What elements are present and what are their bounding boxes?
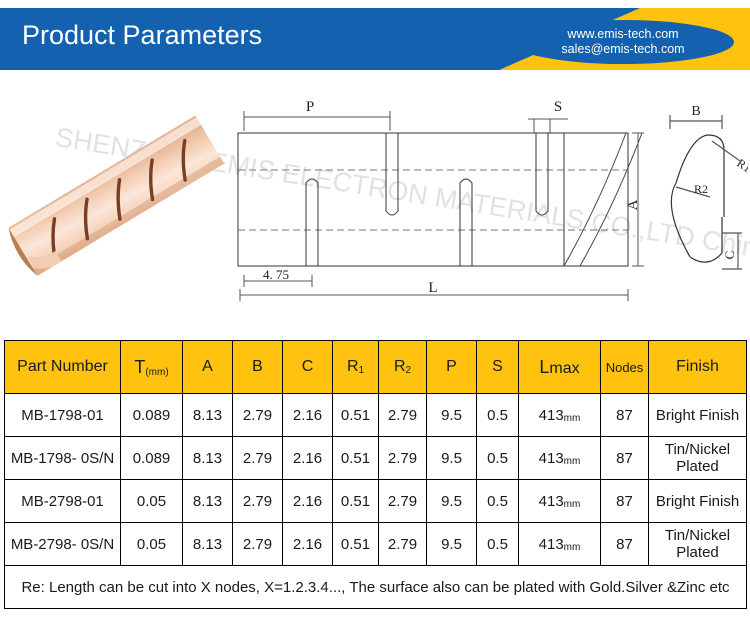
product-photo: [2, 90, 230, 305]
cell-p: 9.5: [427, 394, 477, 437]
header-r1-base: R: [347, 358, 359, 375]
cell-lmax-unit: mm: [564, 499, 581, 510]
illustration-area: P S A 4. 75 L: [0, 85, 750, 325]
cell-part-number: MB-2798-01: [5, 480, 121, 523]
cell-finish: Tin/Nickel Plated: [649, 437, 747, 480]
cell-r2: 2.79: [379, 437, 427, 480]
cell-finish: Bright Finish: [649, 394, 747, 437]
header-lmax: Lmax: [519, 341, 601, 394]
header-part-number: Part Number: [5, 341, 121, 394]
label-a: A: [625, 199, 641, 210]
page-title: Product Parameters: [22, 20, 262, 51]
cell-nodes: 87: [601, 437, 649, 480]
cell-c: 2.16: [283, 523, 333, 566]
header-finish: Finish: [649, 341, 747, 394]
cell-c: 2.16: [283, 394, 333, 437]
cell-lmax-unit: mm: [564, 542, 581, 553]
contact-badge: www.emis-tech.com sales@emis-tech.com: [512, 20, 734, 64]
label-p: P: [306, 99, 314, 115]
label-l: L: [428, 280, 437, 296]
parameters-table: Part Number T(mm) A B C R1 R2 P S Lmax N…: [4, 340, 747, 609]
header-r1-sub: 1: [359, 365, 365, 376]
table-row: MB-2798- 0S/N 0.05 8.13 2.79 2.16 0.51 2…: [5, 523, 747, 566]
cell-nodes: 87: [601, 523, 649, 566]
cell-c: 2.16: [283, 480, 333, 523]
cell-finish: Bright Finish: [649, 480, 747, 523]
cell-a: 8.13: [183, 480, 233, 523]
website-text: www.emis-tech.com: [567, 27, 678, 42]
cell-r2: 2.79: [379, 480, 427, 523]
cell-lmax-unit: mm: [564, 456, 581, 467]
cell-lmax-value: 413: [539, 407, 564, 424]
header-lmax-l: L: [539, 357, 549, 377]
header-lmax-max: max: [549, 360, 579, 377]
cell-nodes: 87: [601, 394, 649, 437]
table-body: MB-1798-01 0.089 8.13 2.79 2.16 0.51 2.7…: [5, 394, 747, 609]
cell-a: 8.13: [183, 523, 233, 566]
cell-r1: 0.51: [333, 437, 379, 480]
header-r2-base: R: [394, 358, 406, 375]
label-b: B: [691, 104, 700, 119]
header-c: C: [283, 341, 333, 394]
header-b: B: [233, 341, 283, 394]
cell-p: 9.5: [427, 437, 477, 480]
cell-p: 9.5: [427, 480, 477, 523]
cell-lmax-value: 413: [539, 450, 564, 467]
label-r2: R2: [694, 182, 708, 196]
cell-thickness: 0.089: [121, 394, 183, 437]
header-thickness-unit: (mm): [145, 367, 168, 378]
cell-finish: Tin/Nickel Plated: [649, 523, 747, 566]
cell-lmax: 413mm: [519, 480, 601, 523]
technical-drawing-side-view: P S A 4. 75 L: [228, 93, 648, 308]
cell-a: 8.13: [183, 394, 233, 437]
cell-s: 0.5: [477, 523, 519, 566]
cell-b: 2.79: [233, 523, 283, 566]
strip-body: [4, 115, 227, 283]
cell-s: 0.5: [477, 437, 519, 480]
header-r1: R1: [333, 341, 379, 394]
table-header-row: Part Number T(mm) A B C R1 R2 P S Lmax N…: [5, 341, 747, 394]
parameters-table-wrapper: Part Number T(mm) A B C R1 R2 P S Lmax N…: [4, 340, 746, 609]
cell-s: 0.5: [477, 394, 519, 437]
cell-r2: 2.79: [379, 523, 427, 566]
header-s: S: [477, 341, 519, 394]
table-row: MB-1798- 0S/N 0.089 8.13 2.79 2.16 0.51 …: [5, 437, 747, 480]
header-banner: Product Parameters www.emis-tech.com sal…: [0, 8, 750, 70]
cell-thickness: 0.05: [121, 523, 183, 566]
label-s: S: [554, 99, 562, 115]
cell-lmax-value: 413: [539, 493, 564, 510]
cell-b: 2.79: [233, 480, 283, 523]
cross-section-drawing: B R1 R2 C: [648, 97, 748, 297]
header-r2-sub: 2: [406, 365, 412, 376]
cell-b: 2.79: [233, 394, 283, 437]
cell-part-number: MB-1798-01: [5, 394, 121, 437]
header-nodes: Nodes: [601, 341, 649, 394]
cell-nodes: 87: [601, 480, 649, 523]
cell-thickness: 0.089: [121, 437, 183, 480]
cell-r1: 0.51: [333, 523, 379, 566]
cell-lmax-value: 413: [539, 536, 564, 553]
cell-r1: 0.51: [333, 480, 379, 523]
table-row: MB-1798-01 0.089 8.13 2.79 2.16 0.51 2.7…: [5, 394, 747, 437]
cell-thickness: 0.05: [121, 480, 183, 523]
cell-lmax: 413mm: [519, 523, 601, 566]
cell-lmax-unit: mm: [564, 413, 581, 424]
cell-r2: 2.79: [379, 394, 427, 437]
table-note-row: Re: Length can be cut into X nodes, X=1.…: [5, 566, 747, 609]
cell-c: 2.16: [283, 437, 333, 480]
table-note: Re: Length can be cut into X nodes, X=1.…: [5, 566, 747, 609]
label-c: C: [722, 251, 737, 260]
header-a: A: [183, 341, 233, 394]
header-thickness: T(mm): [121, 341, 183, 394]
header-thickness-symbol: T: [134, 357, 145, 377]
header-r2: R2: [379, 341, 427, 394]
cell-part-number: MB-2798- 0S/N: [5, 523, 121, 566]
cell-lmax: 413mm: [519, 437, 601, 480]
label-offset: 4. 75: [263, 267, 289, 282]
cell-a: 8.13: [183, 437, 233, 480]
header-p: P: [427, 341, 477, 394]
email-text: sales@emis-tech.com: [561, 42, 684, 57]
cell-p: 9.5: [427, 523, 477, 566]
cell-s: 0.5: [477, 480, 519, 523]
cell-b: 2.79: [233, 437, 283, 480]
cell-r1: 0.51: [333, 394, 379, 437]
cell-lmax: 413mm: [519, 394, 601, 437]
cell-part-number: MB-1798- 0S/N: [5, 437, 121, 480]
table-row: MB-2798-01 0.05 8.13 2.79 2.16 0.51 2.79…: [5, 480, 747, 523]
